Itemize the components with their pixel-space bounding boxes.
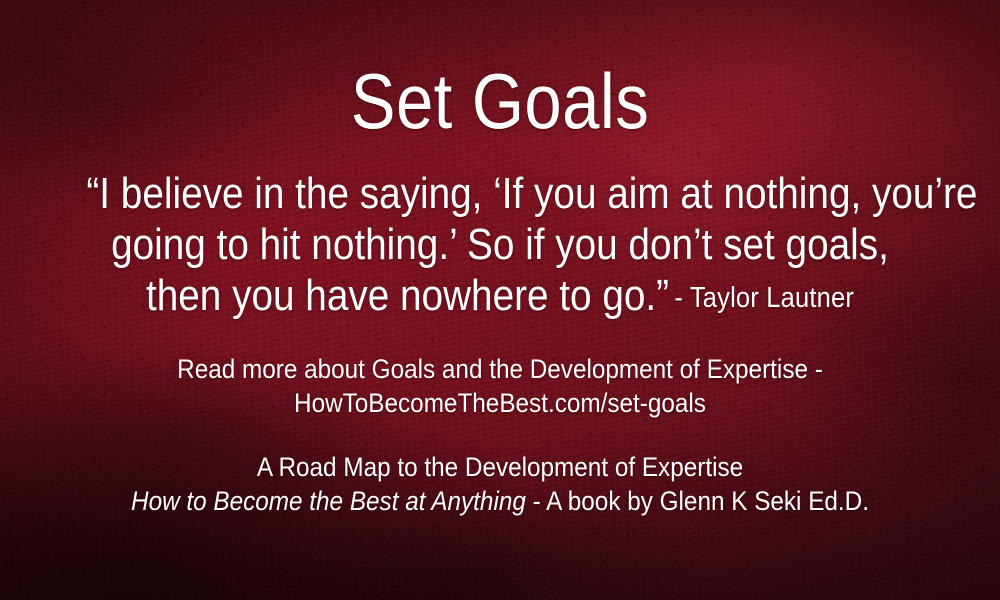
book-title: How to Become the Best at Anything [131, 486, 526, 516]
page-title: Set Goals [70, 62, 930, 140]
read-more-block: Read more about Goals and the Developmen… [0, 352, 1000, 420]
website-url[interactable]: HowToBecomeTheBest.com/set-goals [50, 386, 950, 420]
quote-block: “I believe in the saying, ‘If you aim at… [30, 168, 970, 327]
footer-block: A Road Map to the Development of Experti… [0, 450, 1000, 518]
quote-line-3-text: then you have nowhere to go.” [146, 271, 669, 320]
author-byline: - A book by Glenn K Seki Ed.D. [533, 486, 869, 516]
poster-content: Set Goals “I believe in the saying, ‘If … [0, 0, 1000, 600]
footer-tagline: A Road Map to the Development of Experti… [50, 450, 950, 484]
footer-byline-row: How to Become the Best at Anything - A b… [50, 484, 950, 518]
quote-line-1: “I believe in the saying, ‘If you aim at… [86, 168, 913, 219]
quote-line-3: then you have nowhere to go.”- Taylor La… [86, 270, 913, 327]
read-more-text: Read more about Goals and the Developmen… [50, 352, 950, 386]
quote-poster: Set Goals “I believe in the saying, ‘If … [0, 0, 1000, 600]
quote-attribution: - Taylor Lautner [669, 282, 854, 314]
quote-line-2: going to hit nothing.’ So if you don’t s… [86, 219, 913, 270]
